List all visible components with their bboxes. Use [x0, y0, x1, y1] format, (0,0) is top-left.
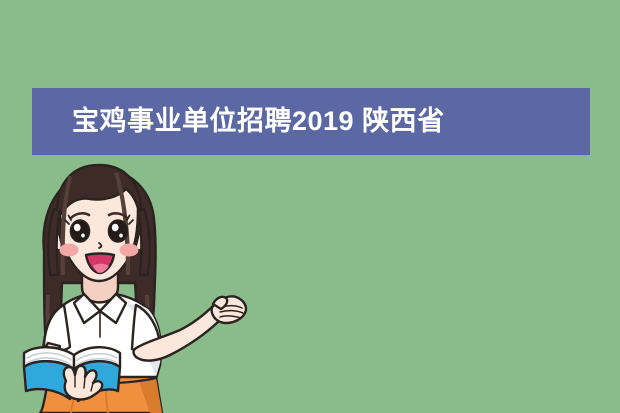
eye-left	[71, 220, 90, 242]
eye-right	[109, 220, 128, 242]
image-canvas: 宝鸡事业单位招聘2019 陕西省	[0, 0, 620, 413]
cheek-right	[120, 244, 139, 257]
title-banner: 宝鸡事业单位招聘2019 陕西省	[32, 88, 590, 155]
hand-left	[64, 366, 102, 400]
illustration-cartoon-girl-with-book	[14, 155, 264, 413]
page-title: 宝鸡事业单位招聘2019 陕西省	[32, 108, 445, 135]
cheek-left	[60, 244, 79, 257]
